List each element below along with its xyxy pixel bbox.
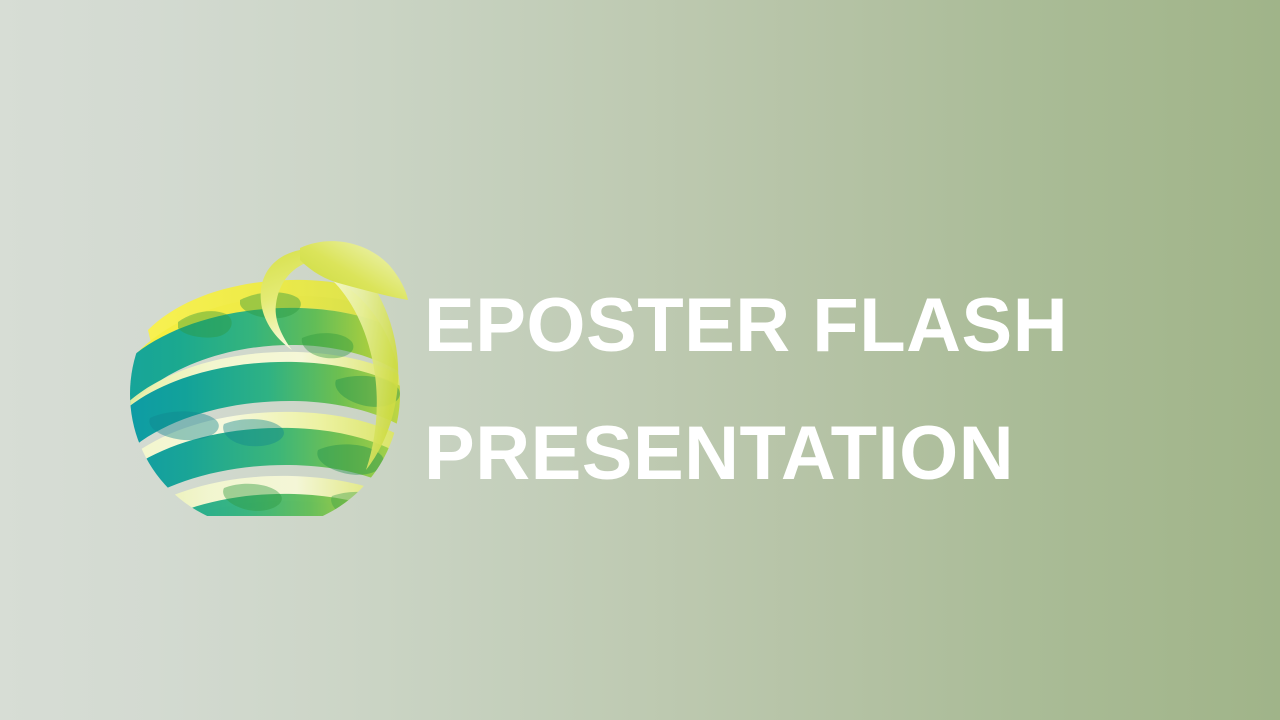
spiral-ribbon-globe-logo — [120, 204, 410, 516]
globe-ribbon-bands — [120, 241, 410, 516]
page-title: EPOSTER FLASH PRESENTATION — [424, 262, 1214, 518]
title-line-1: EPOSTER FLASH — [424, 262, 1214, 390]
title-line-2: PRESENTATION — [424, 390, 1214, 518]
title-slide: EPOSTER FLASH PRESENTATION — [0, 0, 1280, 720]
